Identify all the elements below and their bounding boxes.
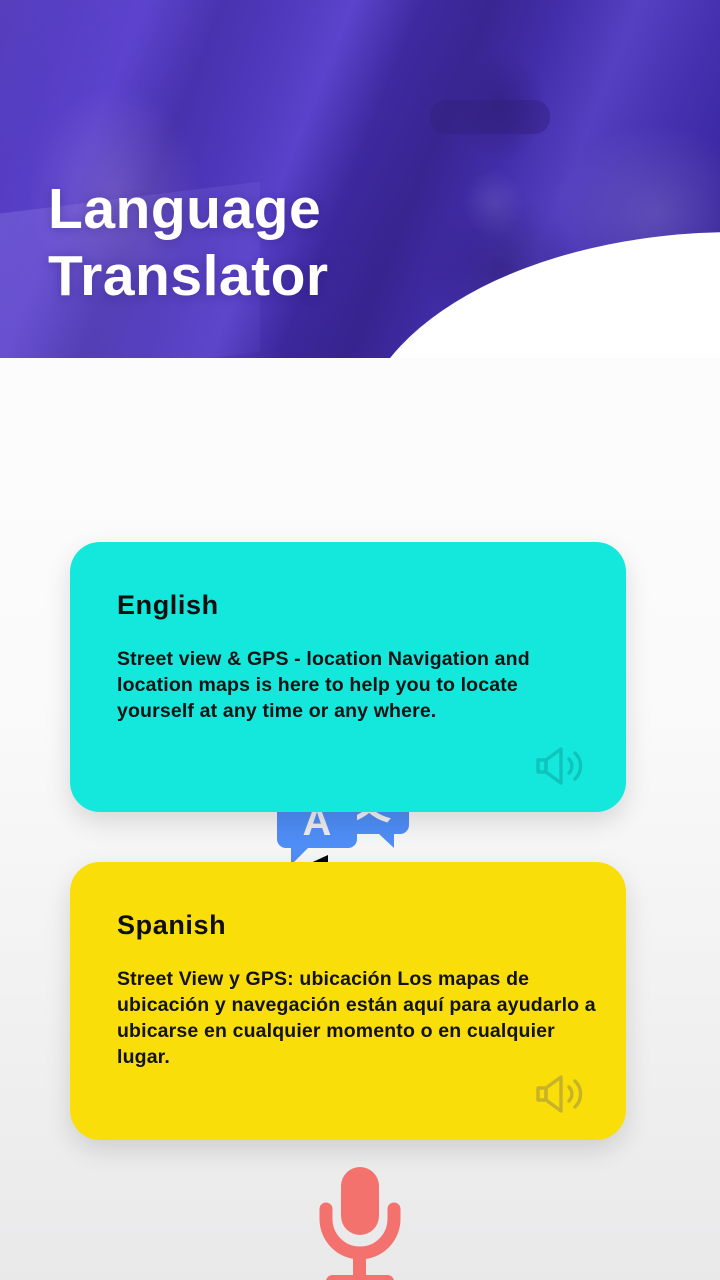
card-title-english: English (117, 590, 219, 621)
language-selector: 文 A English Spanish (0, 388, 720, 523)
translation-card-spanish[interactable]: Spanish Street View y GPS: ubicación Los… (70, 862, 626, 1140)
card-text-english: Street view & GPS - location Navigation … (117, 647, 599, 725)
speaker-icon[interactable] (534, 1072, 588, 1116)
card-title-spanish: Spanish (117, 910, 226, 941)
card-text-spanish: Street View y GPS: ubicación Los mapas d… (117, 967, 599, 1071)
page-title: Language Translator (48, 176, 329, 311)
microphone-icon[interactable] (300, 1163, 420, 1280)
app-root: Language Translator 文 A English Spanish (0, 0, 720, 1280)
speaker-icon[interactable] (534, 744, 588, 788)
translation-card-english[interactable]: English Street view & GPS - location Nav… (70, 542, 626, 812)
